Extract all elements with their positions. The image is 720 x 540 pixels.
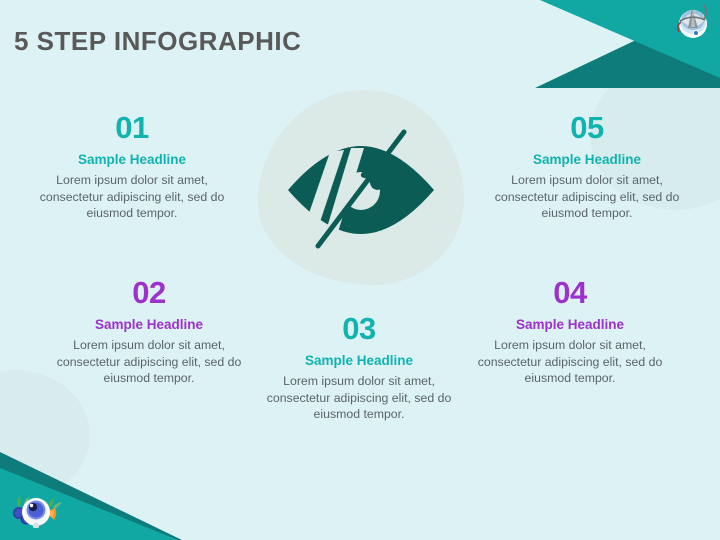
step-headline-03: Sample Headline <box>266 354 452 369</box>
step-headline-05: Sample Headline <box>494 153 680 168</box>
eye-slash-icon <box>282 128 440 250</box>
step-number-03: 03 <box>266 313 452 346</box>
step-body-05: Lorem ipsum dolor sit amet, consectetur … <box>494 172 680 221</box>
step-body-02: Lorem ipsum dolor sit amet, consectetur … <box>56 337 242 386</box>
step-block-01[interactable]: 01 Sample Headline Lorem ipsum dolor sit… <box>39 112 225 221</box>
step-number-04: 04 <box>477 277 663 310</box>
step-body-04: Lorem ipsum dolor sit amet, consectetur … <box>477 337 663 386</box>
step-block-04[interactable]: 04 Sample Headline Lorem ipsum dolor sit… <box>477 277 663 386</box>
step-number-01: 01 <box>39 112 225 145</box>
eyeball-carrot-blueberry-logo-icon <box>8 486 66 534</box>
step-block-03[interactable]: 03 Sample Headline Lorem ipsum dolor sit… <box>266 313 452 422</box>
step-headline-02: Sample Headline <box>56 318 242 333</box>
brand-emblem-icon <box>670 2 714 42</box>
infographic-slide: 5 STEP INFOGRAPHIC 01 Sample Headline Lo… <box>0 0 720 540</box>
step-body-03: Lorem ipsum dolor sit amet, consectetur … <box>266 373 452 422</box>
step-headline-01: Sample Headline <box>39 153 225 168</box>
step-block-05[interactable]: 05 Sample Headline Lorem ipsum dolor sit… <box>494 112 680 221</box>
step-headline-04: Sample Headline <box>477 318 663 333</box>
page-title: 5 STEP INFOGRAPHIC <box>14 26 301 57</box>
step-number-02: 02 <box>56 277 242 310</box>
step-body-01: Lorem ipsum dolor sit amet, consectetur … <box>39 172 225 221</box>
step-number-05: 05 <box>494 112 680 145</box>
step-block-02[interactable]: 02 Sample Headline Lorem ipsum dolor sit… <box>56 277 242 386</box>
